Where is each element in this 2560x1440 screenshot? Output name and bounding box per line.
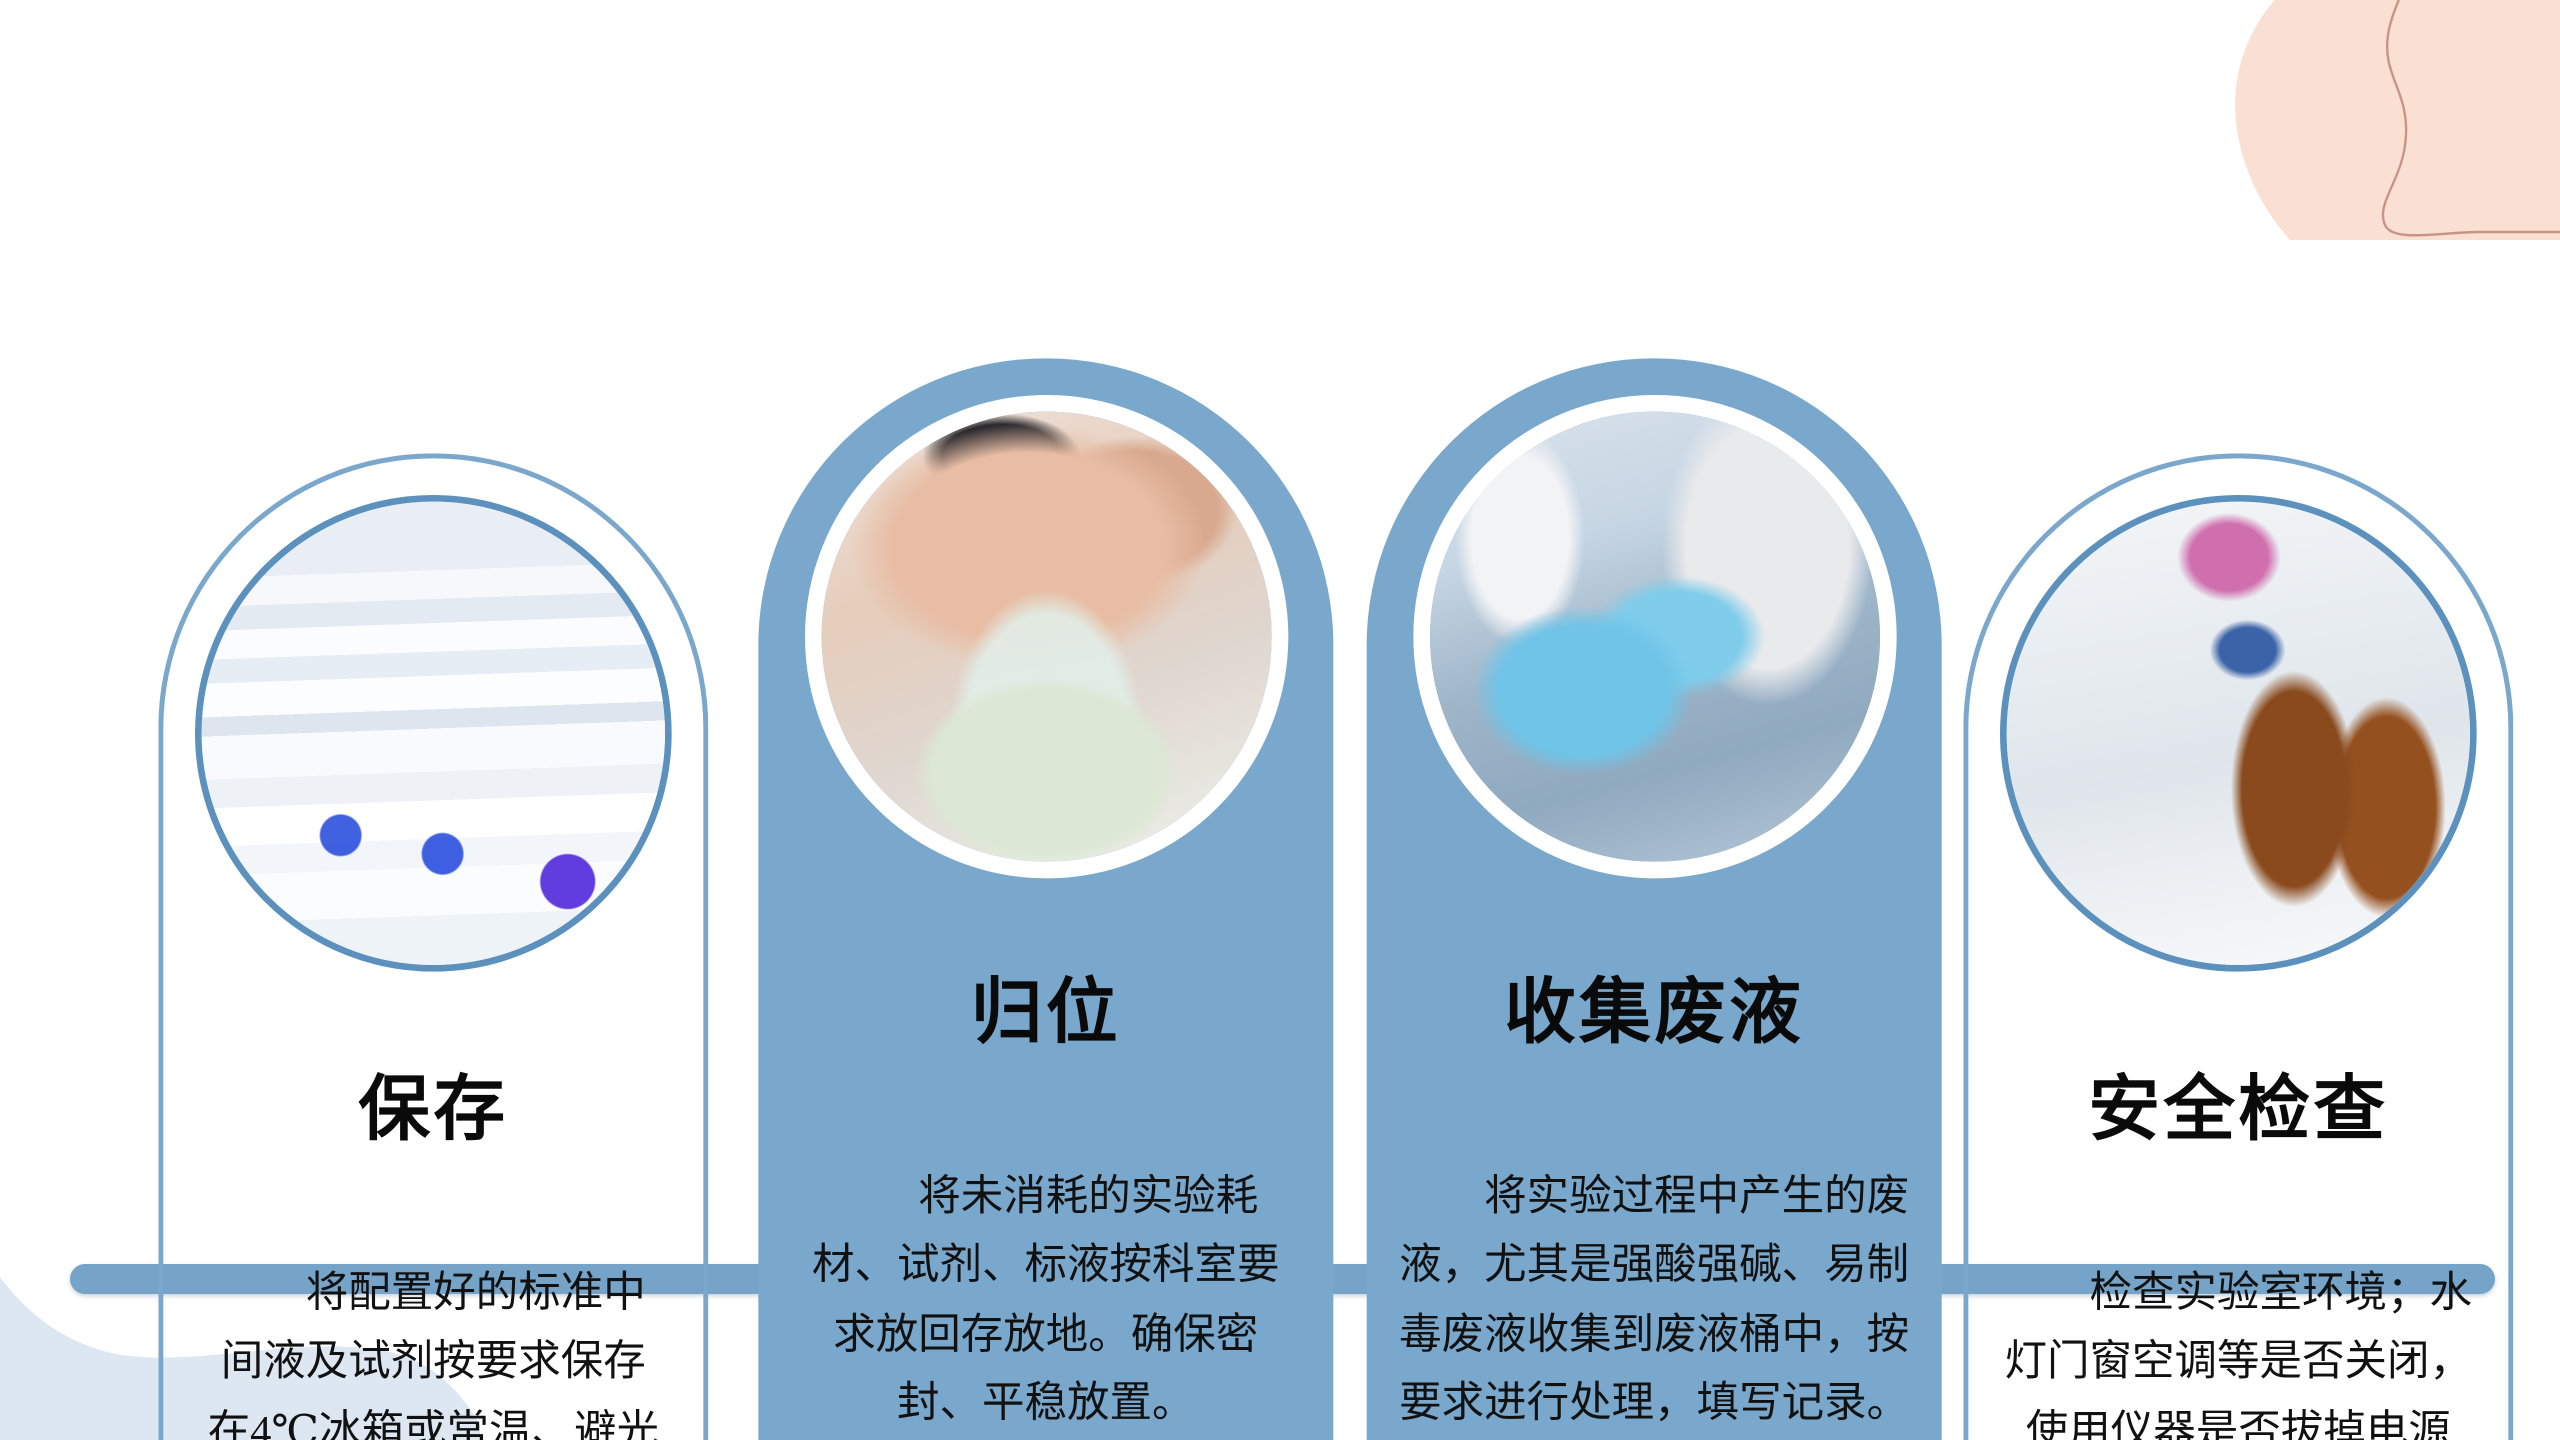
slide-canvas: 保存 将配置好的标准中间液及试剂按要求保存在4℃冰箱或常温、避光等地。确保标签完… [0,0,2560,1440]
card-body: 将配置好的标准中间液及试剂按要求保存在4℃冰箱或常温、避光等地。确保标签完好，密… [163,1258,703,1440]
card-body: 将实验过程中产生的废液，尤其是强酸强碱、易制毒废液收集到废液桶中，按要求进行处理… [1367,1162,1942,1437]
reagent-bottles-photo [2007,502,2470,965]
card-title: 归位 [758,978,1333,1050]
card-title: 保存 [163,1075,703,1147]
cards-container: 保存 将配置好的标准中间液及试剂按要求保存在4℃冰箱或常温、避光等地。确保标签完… [0,0,2560,1440]
card-归位[interactable]: 归位 将未消耗的实验耗材、试剂、标液按科室要求放回存放地。确保密封、平稳放置。 [758,358,1333,1440]
card-body-text: 将未消耗的实验耗材、试剂、标液按科室要求放回存放地。确保密封、平稳放置。 [792,1162,1300,1437]
photo-ring [195,495,672,972]
card-安全检查[interactable]: 安全检查 检查实验室环境；水灯门窗空调等是否关闭，使用仪器是否拔掉电源线，关闭实… [1963,453,2513,1440]
card-title: 收集废液 [1367,978,1942,1050]
card-body-text: 将实验过程中产生的废液，尤其是强酸强碱、易制毒废液收集到废液桶中，按要求进行处理… [1397,1162,1912,1437]
photo-ring [1413,395,1896,878]
card-body: 将未消耗的实验耗材、试剂、标液按科室要求放回存放地。确保密封、平稳放置。 [758,1162,1333,1437]
card-body-text: 检查实验室环境；水灯门窗空调等是否关闭，使用仪器是否拔掉电源线，关闭实验室通风系… [2002,1258,2475,1440]
photo-ring [804,395,1287,878]
flask-in-hand-photo [821,412,1271,862]
test-tube-rack-photo [202,502,665,965]
gloved-hand-instrument-photo [1429,412,1879,862]
card-收集废液[interactable]: 收集废液 将实验过程中产生的废液，尤其是强酸强碱、易制毒废液收集到废液桶中，按要… [1367,358,1942,1440]
card-body: 检查实验室环境；水灯门窗空调等是否关闭，使用仪器是否拔掉电源线，关闭实验室通风系… [1968,1258,2508,1440]
photo-ring [2000,495,2477,972]
card-保存[interactable]: 保存 将配置好的标准中间液及试剂按要求保存在4℃冰箱或常温、避光等地。确保标签完… [158,453,708,1440]
card-title: 安全检查 [1968,1075,2508,1147]
card-body-text: 将配置好的标准中间液及试剂按要求保存在4℃冰箱或常温、避光等地。确保标签完好，密… [200,1258,667,1440]
